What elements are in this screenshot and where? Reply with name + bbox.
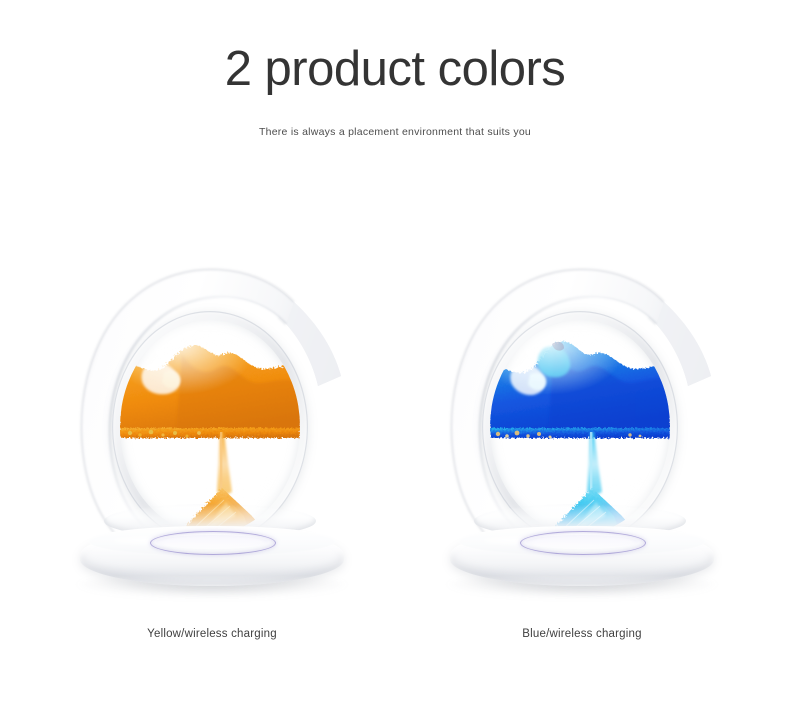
sand-scape-yellow xyxy=(120,320,300,534)
product-variant-blue[interactable]: Blue/wireless charging xyxy=(412,236,752,666)
page-title: 2 product colors xyxy=(0,0,790,95)
page-subtitle: There is always a placement environment … xyxy=(0,95,790,138)
sand-scape-blue xyxy=(490,320,670,534)
globe-glass xyxy=(120,320,300,534)
variant-caption: Yellow/wireless charging xyxy=(42,628,382,640)
page-header: 2 product colors There is always a place… xyxy=(0,0,790,138)
lamp-yellow xyxy=(42,236,382,608)
product-showcase-page: 2 product colors There is always a place… xyxy=(0,0,790,709)
globe-glass xyxy=(490,320,670,534)
lamp-blue xyxy=(412,236,752,608)
variant-caption: Blue/wireless charging xyxy=(412,628,752,640)
product-variant-row: Yellow/wireless charging xyxy=(0,236,790,666)
product-variant-yellow[interactable]: Yellow/wireless charging xyxy=(42,236,382,666)
wireless-charging-ring[interactable] xyxy=(520,531,646,555)
wireless-charging-ring[interactable] xyxy=(150,531,276,555)
